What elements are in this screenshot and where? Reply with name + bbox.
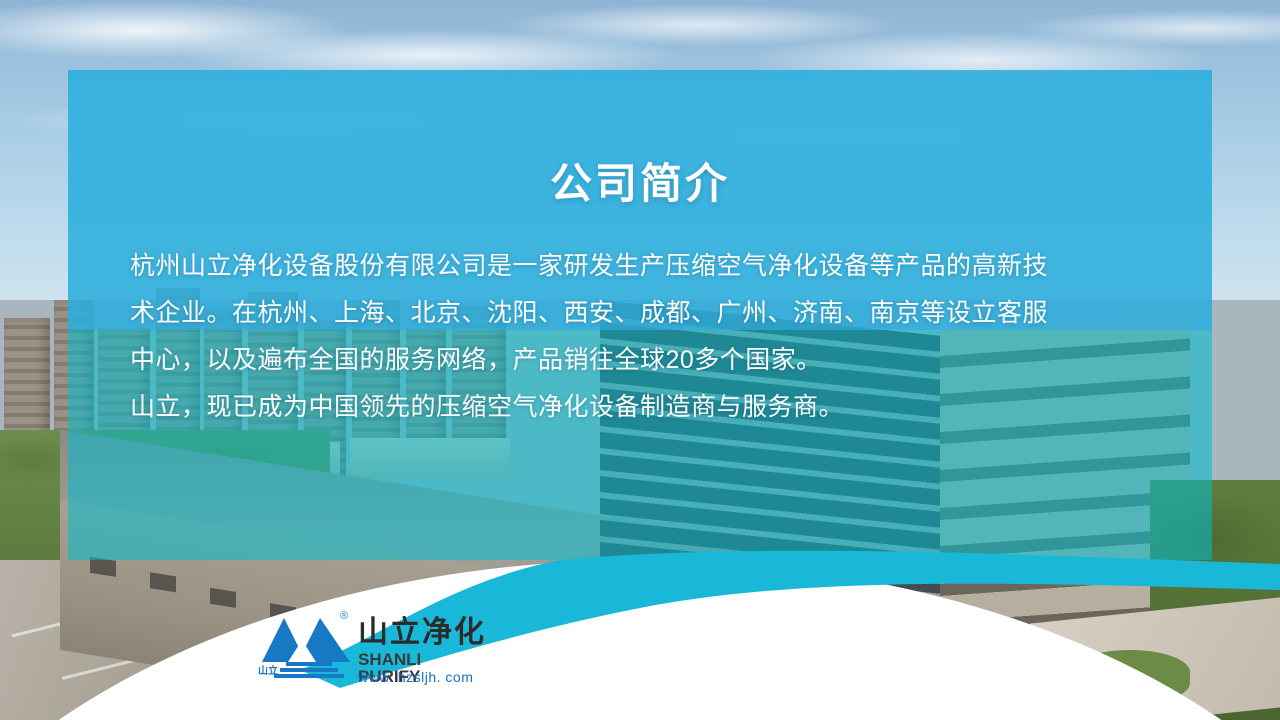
page-title: 公司简介 bbox=[0, 150, 1280, 211]
description-line-3: 中心，以及遍布全国的服务网络，产品销往全球20多个国家。 bbox=[130, 337, 1110, 384]
description-line-2: 术企业。在杭州、上海、北京、沈阳、西安、成都、广州、济南、南京等设立客服 bbox=[130, 290, 1110, 337]
company-description: 杭州山立净化设备股份有限公司是一家研发生产压缩空气净化设备等产品的高新技 术企业… bbox=[130, 243, 1110, 431]
registered-trademark-icon: ® bbox=[340, 610, 348, 622]
description-line-4: 山立，现已成为中国领先的压缩空气净化设备制造商与服务商。 bbox=[130, 384, 1110, 431]
logo-mark-label: 山立 bbox=[258, 662, 278, 677]
cyan-swoosh-decoration bbox=[0, 520, 1280, 720]
brand-name-cn: 山立净化 bbox=[358, 618, 486, 648]
description-line-1: 杭州山立净化设备股份有限公司是一家研发生产压缩空气净化设备等产品的高新技 bbox=[130, 243, 1110, 290]
presentation-slide: 公司简介 杭州山立净化设备股份有限公司是一家研发生产压缩空气净化设备等产品的高新… bbox=[0, 0, 1280, 720]
company-logo: ® 山立 山立净化 SHANLI PURIFY www. hzsljh. com bbox=[258, 606, 488, 686]
brand-website: www. hzsljh. com bbox=[358, 670, 473, 684]
